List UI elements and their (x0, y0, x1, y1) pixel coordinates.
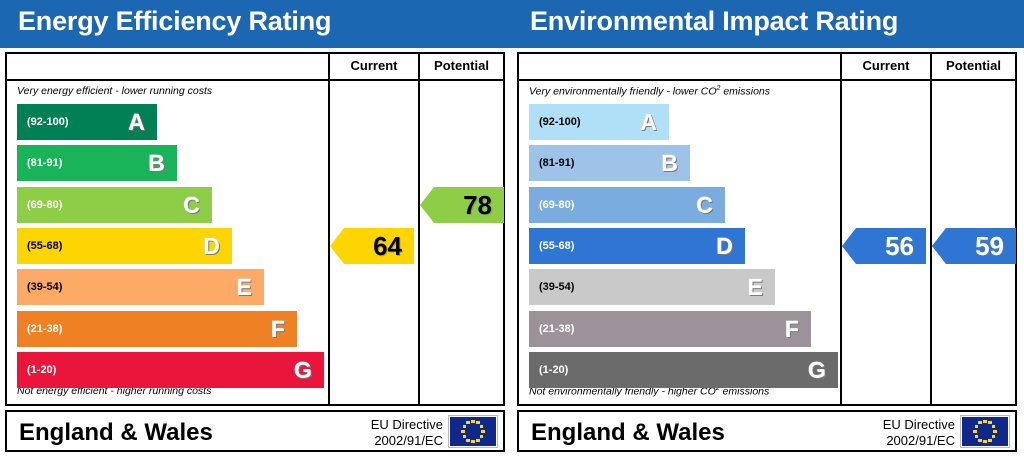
band-range-label: (21-38) (27, 323, 62, 335)
band-letter-label: A (128, 111, 145, 134)
eu-star-icon (978, 421, 981, 424)
current-rating-arrow: 56 (842, 228, 926, 264)
environmental-title-band: Environmental Impact Rating (512, 0, 1024, 48)
band-range-label: (39-54) (539, 281, 574, 293)
eu-star-icon (481, 430, 484, 433)
band-letter-label: D (716, 235, 733, 258)
band-bar-f: (21-38)F (17, 311, 297, 347)
environmental-column-divider-2 (930, 54, 932, 404)
footer-region-label-2: England & Wales (531, 419, 725, 447)
footer-directive-line1: EU Directive (371, 417, 443, 433)
band-range-label: (1-20) (27, 364, 56, 376)
band-range-label: (55-68) (539, 240, 574, 252)
energy-potential-column-label: Potential (420, 58, 503, 73)
rating-value: 64 (373, 233, 414, 259)
environmental-chart-frame: Current Potential Very environmentally f… (517, 52, 1017, 406)
page-title: Energy Efficiency Rating (18, 6, 331, 37)
band-bar-a: (92-100)A (529, 104, 669, 140)
energy-title-band: Energy Efficiency Rating (0, 0, 512, 48)
eu-star-icon (466, 421, 469, 424)
potential-rating-arrow: 78 (420, 187, 504, 223)
current-rating-arrow: 64 (330, 228, 414, 264)
eu-star-icon (463, 435, 466, 438)
energy-current-column-label: Current (330, 58, 418, 73)
rating-value: 56 (885, 233, 926, 259)
epc-graph: Energy Efficiency Rating Current Potenti… (0, 0, 1024, 457)
band-letter-label: F (785, 318, 799, 341)
eu-star-icon (983, 420, 986, 423)
band-letter-label: C (696, 194, 713, 217)
footer-directive-label-2: EU Directive 2002/91/EC (883, 417, 955, 450)
band-range-label: (81-91) (27, 157, 62, 169)
eu-star-icon (992, 435, 995, 438)
eu-star-icon (480, 435, 483, 438)
energy-column-divider-2 (418, 54, 420, 404)
footer-directive-label: EU Directive 2002/91/EC (371, 417, 443, 450)
band-range-label: (92-100) (27, 116, 69, 128)
band-letter-label: A (640, 111, 657, 134)
eu-star-icon (975, 435, 978, 438)
eu-star-icon (466, 439, 469, 442)
environmental-current-column-label: Current (842, 58, 930, 73)
band-range-label: (1-20) (539, 364, 568, 376)
eu-star-icon (480, 425, 483, 428)
band-letter-label: E (748, 276, 763, 299)
eu-star-icon (476, 439, 479, 442)
band-letter-label: C (183, 194, 200, 217)
band-bar-d: (55-68)D (17, 228, 232, 264)
band-bar-b: (81-91)B (529, 145, 690, 181)
band-bar-c: (69-80)C (17, 187, 212, 223)
band-range-label: (92-100) (539, 116, 581, 128)
band-range-label: (39-54) (27, 281, 62, 293)
potential-rating-arrow: 59 (932, 228, 1016, 264)
footer-directive-line1-2: EU Directive (883, 417, 955, 433)
footer-directive-line2: 2002/91/EC (371, 433, 443, 449)
band-bar-c: (69-80)C (529, 187, 725, 223)
band-bar-b: (81-91)B (17, 145, 177, 181)
band-letter-label: G (808, 359, 826, 382)
eu-flag-icon-2 (961, 416, 1009, 447)
band-letter-label: B (661, 152, 678, 175)
eu-star-icon (463, 425, 466, 428)
band-letter-label: B (148, 152, 165, 175)
eu-flag-icon (449, 416, 497, 447)
band-bar-a: (92-100)A (17, 104, 157, 140)
eu-star-icon (973, 430, 976, 433)
band-range-label: (55-68) (27, 240, 62, 252)
eu-star-icon (471, 420, 474, 423)
environmental-potential-column-label: Potential (932, 58, 1015, 73)
band-bar-f: (21-38)F (529, 311, 811, 347)
footer-region-label: England & Wales (19, 419, 213, 447)
eu-star-icon (988, 439, 991, 442)
eu-star-icon (993, 430, 996, 433)
rating-value: 78 (463, 192, 504, 218)
band-range-label: (81-91) (539, 157, 574, 169)
band-range-label: (69-80) (539, 199, 574, 211)
band-bar-g: (1-20)G (17, 352, 324, 388)
band-letter-label: D (203, 235, 220, 258)
energy-column-divider-1 (328, 54, 330, 404)
band-letter-label: F (271, 318, 285, 341)
page-title-2: Environmental Impact Rating (530, 6, 898, 37)
band-range-label: (21-38) (539, 323, 574, 335)
eu-star-icon (471, 440, 474, 443)
eu-star-icon (975, 425, 978, 428)
environmental-impact-panel: Environmental Impact Rating Current Pote… (512, 0, 1024, 457)
eu-star-icon (978, 439, 981, 442)
band-bar-g: (1-20)G (529, 352, 838, 388)
band-bar-d: (55-68)D (529, 228, 745, 264)
footer-directive-line2-2: 2002/91/EC (883, 433, 955, 449)
eu-star-icon (992, 425, 995, 428)
energy-caption-top: Very energy efficient - lower running co… (17, 85, 212, 97)
band-bar-e: (39-54)E (17, 269, 264, 305)
energy-footer: England & Wales EU Directive 2002/91/EC (5, 410, 505, 452)
energy-efficiency-panel: Energy Efficiency Rating Current Potenti… (0, 0, 512, 457)
band-letter-label: E (237, 276, 252, 299)
environmental-caption-top: Very environmentally friendly - lower CO… (529, 85, 770, 98)
band-letter-label: G (294, 359, 312, 382)
environmental-footer: England & Wales EU Directive 2002/91/EC (517, 410, 1017, 452)
eu-star-icon (983, 440, 986, 443)
environmental-column-divider-1 (840, 54, 842, 404)
energy-chart-frame: Current Potential Very energy efficient … (5, 52, 505, 406)
eu-star-icon (461, 430, 464, 433)
band-bar-e: (39-54)E (529, 269, 775, 305)
band-range-label: (69-80) (27, 199, 62, 211)
rating-value: 59 (975, 233, 1016, 259)
